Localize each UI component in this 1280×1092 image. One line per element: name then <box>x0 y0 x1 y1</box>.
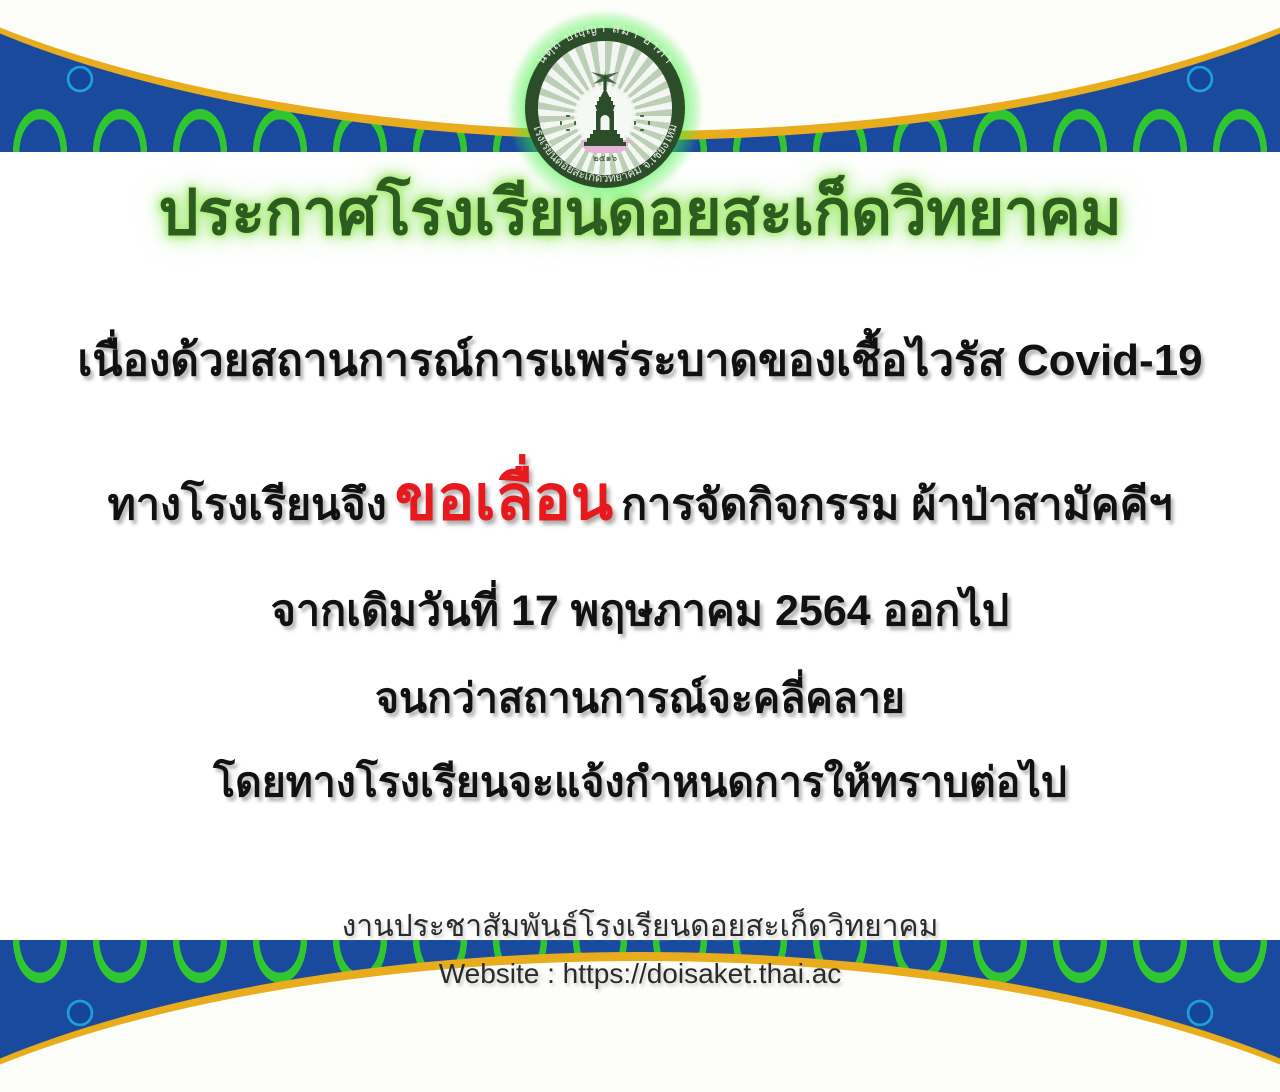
logo-founded-year: ๒๕๑๖ <box>538 151 672 165</box>
emphasis-postpone: ขอเลื่อน <box>387 464 621 533</box>
body-line-3: จากเดิมวันที่ 17 พฤษภาคม 2564 ออกไป <box>0 590 1280 633</box>
body-line-2: ทางโรงเรียนจึงขอเลื่อนการจัดกิจกรรม ผ้าป… <box>0 468 1280 530</box>
footer-department: งานประชาสัมพันธ์โรงเรียนดอยสะเก็ดวิทยาคม <box>0 903 1280 950</box>
logo-chedi-icon <box>578 71 632 149</box>
body-line-1: เนื่องด้วยสถานการณ์การแพร่ระบาดของเชื้อไ… <box>0 339 1280 383</box>
logo-disc: ๒๕๑๖ <box>525 28 685 188</box>
school-logo: ๒๕๑๖ นตฺถิ ปญฺญา สมา อาภา โรงเรียนดอยสะเ… <box>507 26 703 190</box>
footer-website: Website : https://doisaket.thai.ac <box>0 958 1280 990</box>
body-line-2-suffix: การจัดกิจกรรม ผ้าป่าสามัคคีฯ <box>621 481 1172 529</box>
logo-floret-left-icon <box>560 115 576 131</box>
announcement-poster: ๒๕๑๖ นตฺถิ ปญฺญา สมา อาภา โรงเรียนดอยสะเ… <box>0 0 1280 1092</box>
body-line-2-prefix: ทางโรงเรียนจึง <box>107 481 386 529</box>
logo-floret-right-icon <box>634 115 650 131</box>
body-line-4: จนกว่าสถานการณ์จะคลี่คลาย <box>0 678 1280 719</box>
body-line-5: โดยทางโรงเรียนจะแจ้งกำหนดการให้ทราบต่อไป <box>0 762 1280 803</box>
